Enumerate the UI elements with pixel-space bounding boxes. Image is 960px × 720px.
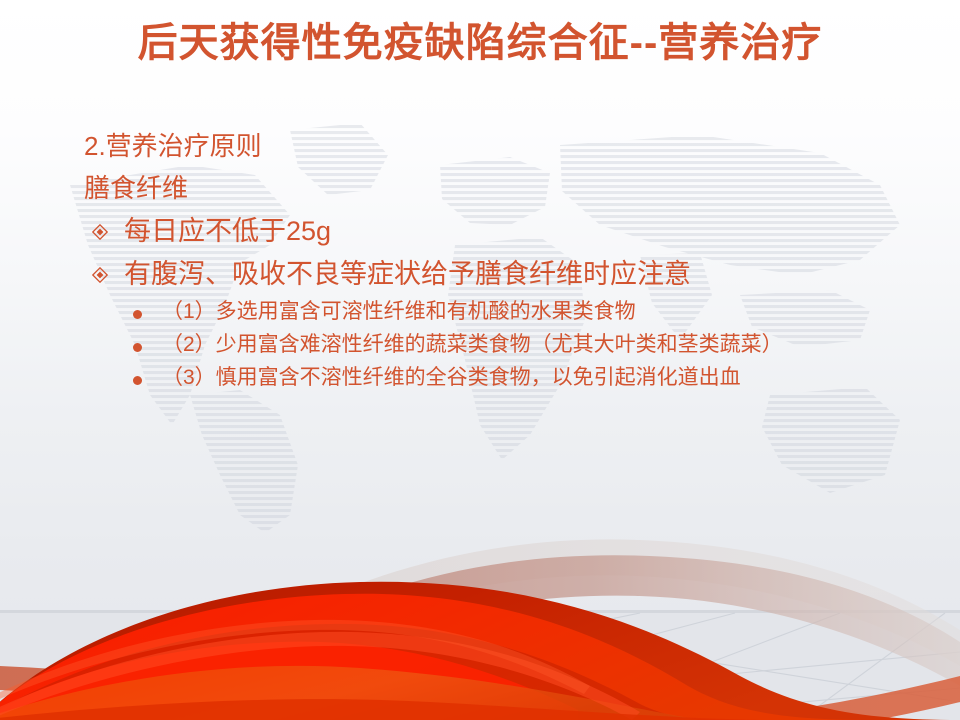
sub-bullet-item-1-label: （1）多选用富含可溶性纤维和有机酸的水果类食物 — [162, 300, 636, 323]
bullet-item-2: 有腹泻、吸收不良等症状给予膳食纤维时应注意 — [0, 254, 960, 295]
diamond-bullet-icon — [92, 267, 108, 283]
sub-bullet-item-2-label: （2）少用富含难溶性纤维的蔬菜类食物（尤其大叶类和茎类蔬菜） — [162, 333, 783, 356]
bullet-item-2-label: 有腹泻、吸收不良等症状给予膳食纤维时应注意 — [124, 259, 691, 289]
sub-bullet-item-1: （1）多选用富含可溶性纤维和有机酸的水果类食物 — [0, 297, 960, 327]
section-subheading: 膳食纤维 — [0, 170, 960, 208]
bullet-item-1-label: 每日应不低于25g — [124, 216, 331, 246]
dot-bullet-icon — [133, 376, 142, 385]
diamond-bullet-icon — [92, 224, 108, 240]
sub-bullet-item-2: （2）少用富含难溶性纤维的蔬菜类食物（尤其大叶类和茎类蔬菜） — [0, 330, 960, 360]
slide-canvas: 后天获得性免疫缺陷综合征--营养治疗 2.营养治疗原则 膳食纤维 每日应不低于2… — [0, 0, 960, 720]
section-heading: 2.营养治疗原则 — [0, 128, 960, 166]
page-title: 后天获得性免疫缺陷综合征--营养治疗 — [138, 18, 823, 68]
dot-bullet-icon — [133, 343, 142, 352]
sub-bullet-item-3-label: （3）慎用富含不溶性纤维的全谷类食物，以免引起消化道出血 — [162, 366, 741, 389]
dot-bullet-icon — [133, 310, 142, 319]
perspective-floor-lines — [0, 560, 960, 720]
slide-title-bar: 后天获得性免疫缺陷综合征--营养治疗 — [0, 18, 960, 68]
slide-content: 2.营养治疗原则 膳食纤维 每日应不低于25g 有腹泻、吸收不良等症状给予膳食纤… — [0, 128, 960, 396]
bullet-item-1: 每日应不低于25g — [0, 211, 960, 252]
sub-bullet-item-3: （3）慎用富含不溶性纤维的全谷类食物，以免引起消化道出血 — [0, 363, 960, 393]
ribbon-wave-decoration — [0, 490, 960, 720]
